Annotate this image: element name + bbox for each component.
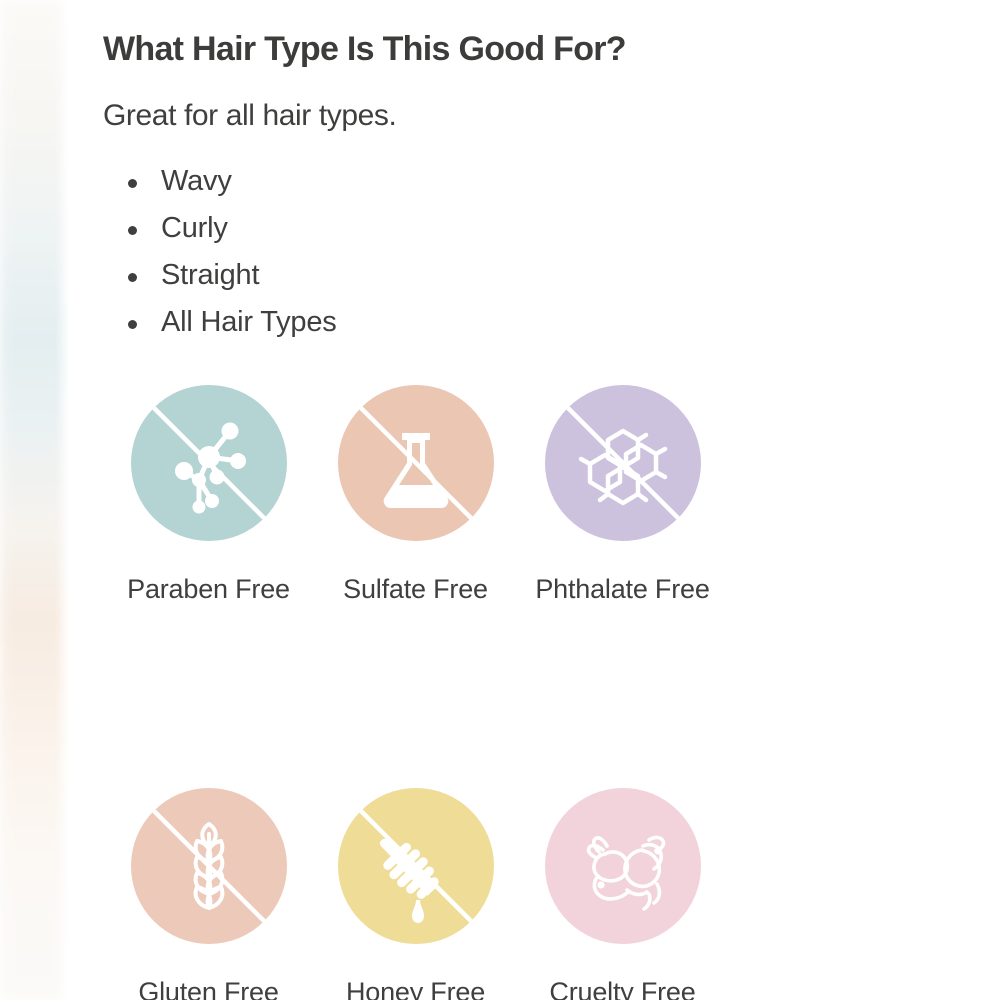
badge-label: Sulfate Free: [312, 569, 519, 610]
list-item: Curly: [116, 205, 337, 252]
badge-label: Gluten Free: [105, 972, 312, 1000]
free-from-badge-grid: Paraben Free Sulfate Free: [105, 385, 745, 1000]
chemical-hexagons-icon: [545, 385, 701, 541]
badge-label: Paraben Free: [105, 569, 312, 610]
badge-gluten-free: Gluten Free: [105, 788, 312, 1000]
list-item: All Hair Types: [116, 299, 337, 346]
list-item: Straight: [116, 252, 337, 299]
flask-icon: [338, 385, 494, 541]
leaping-bunny-icon: [545, 788, 701, 944]
content-panel: What Hair Type Is This Good For? Great f…: [68, 0, 1000, 1000]
badge-label: Phthalate Free: [519, 569, 726, 610]
badge-cruelty-free: Cruelty Free: [519, 788, 726, 1000]
list-item: Wavy: [116, 158, 337, 205]
badge-sulfate-free: Sulfate Free: [312, 385, 519, 610]
badge-row: Paraben Free Sulfate Free: [105, 385, 745, 610]
badge-label: Cruelty Free: [519, 972, 726, 1000]
badge-phthalate-free: Phthalate Free: [519, 385, 726, 610]
badge-label: Honey Free: [312, 972, 519, 1000]
badge-circle: [131, 385, 287, 541]
page-title: What Hair Type Is This Good For?: [103, 30, 626, 69]
molecule-icon: [131, 385, 287, 541]
badge-circle: [131, 788, 287, 944]
badge-circle: [545, 788, 701, 944]
intro-text: Great for all hair types.: [103, 99, 396, 133]
badge-paraben-free: Paraben Free: [105, 385, 312, 610]
badge-circle: [338, 788, 494, 944]
wheat-icon: [131, 788, 287, 944]
badge-row: Gluten Free: [105, 788, 745, 1000]
badge-circle: [338, 385, 494, 541]
product-detail-page: What Hair Type Is This Good For? Great f…: [0, 0, 1000, 1000]
badge-circle: [545, 385, 701, 541]
badge-honey-free: Honey Free: [312, 788, 519, 1000]
honey-dipper-icon: [338, 788, 494, 944]
hair-type-list: Wavy Curly Straight All Hair Types: [116, 158, 337, 346]
